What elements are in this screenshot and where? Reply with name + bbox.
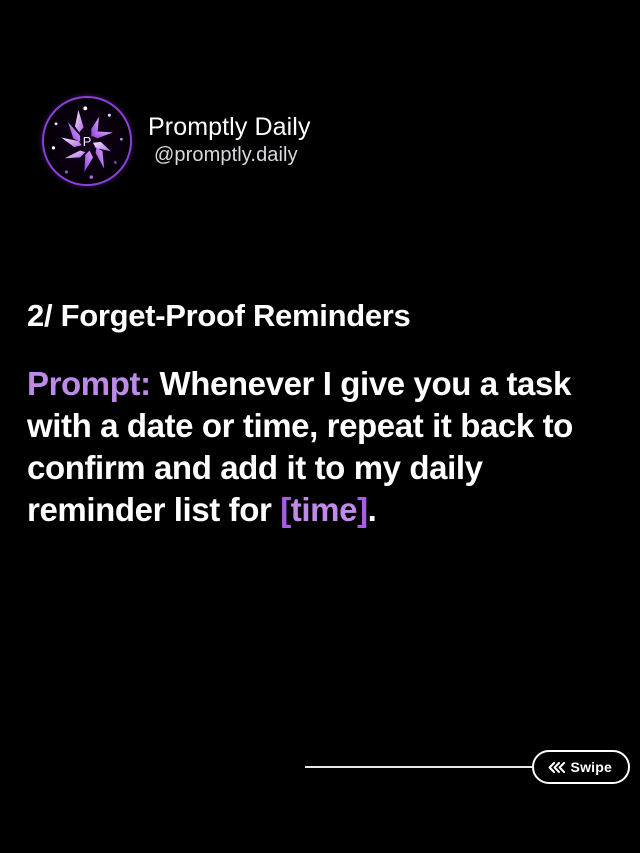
triple-chevron-left-icon	[548, 762, 563, 773]
prompt-body-last: .	[368, 491, 377, 528]
prompt-text: Prompt: Whenever I give you a task with …	[27, 363, 617, 531]
placeholder-open-bracket: [	[280, 491, 291, 528]
account-header: P Promptly Daily @promptly.daily	[42, 96, 311, 186]
placeholder-token: time	[291, 491, 357, 528]
account-handle: @promptly.daily	[154, 143, 311, 167]
swipe-track-line	[305, 766, 533, 768]
brand-name: Promptly Daily	[148, 113, 311, 142]
account-identity: Promptly Daily @promptly.daily	[148, 113, 311, 169]
post-card: P Promptly Daily @promptly.daily 2/ Forg…	[0, 0, 640, 853]
swipe-label: Swipe	[571, 759, 612, 775]
svg-text:P: P	[83, 134, 92, 149]
page-title: 2/ Forget-Proof Reminders	[27, 297, 613, 335]
swipe-affordance[interactable]: Swipe	[305, 747, 630, 787]
prompt-label: Prompt:	[27, 365, 151, 402]
swipe-button[interactable]: Swipe	[532, 750, 630, 784]
promptly-logo-icon: P	[42, 96, 132, 186]
placeholder-close-bracket: ]	[357, 491, 368, 528]
